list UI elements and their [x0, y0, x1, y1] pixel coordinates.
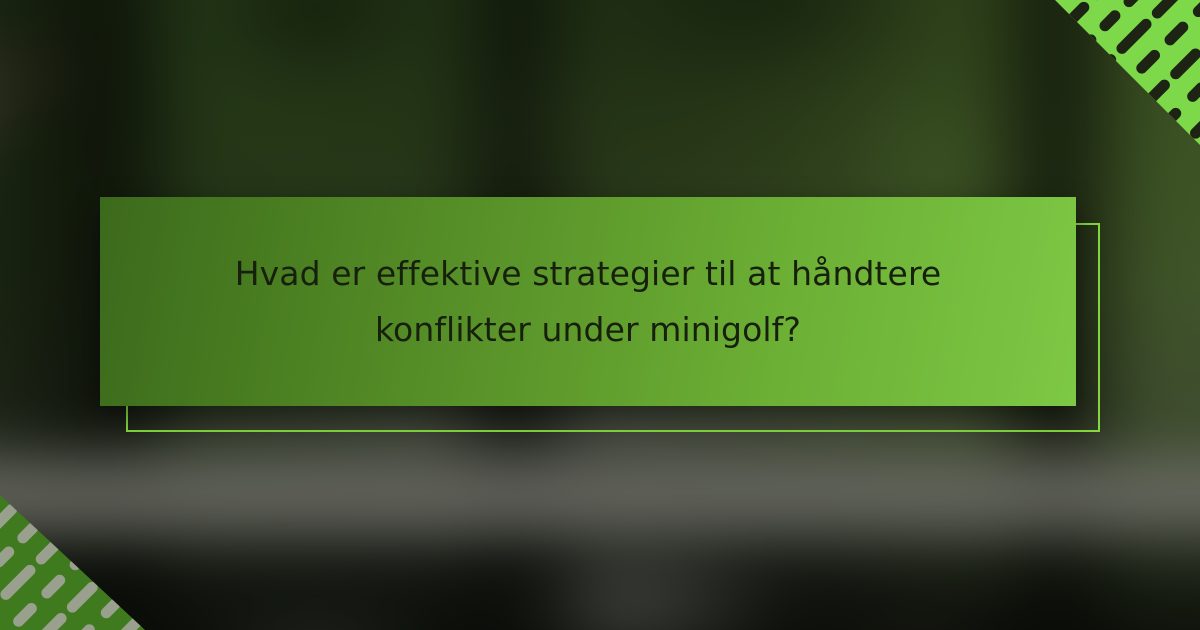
- question-card-group: Hvad er effektive strategier til at hånd…: [100, 197, 1076, 406]
- share-card-canvas: Hvad er effektive strategier til at hånd…: [0, 0, 1200, 630]
- question-card: Hvad er effektive strategier til at hånd…: [100, 197, 1076, 406]
- question-text: Hvad er effektive strategier til at hånd…: [168, 246, 1008, 358]
- corner-pattern-top-right-icon: [1010, 0, 1200, 190]
- corner-pattern-bottom-left-icon: [0, 440, 190, 630]
